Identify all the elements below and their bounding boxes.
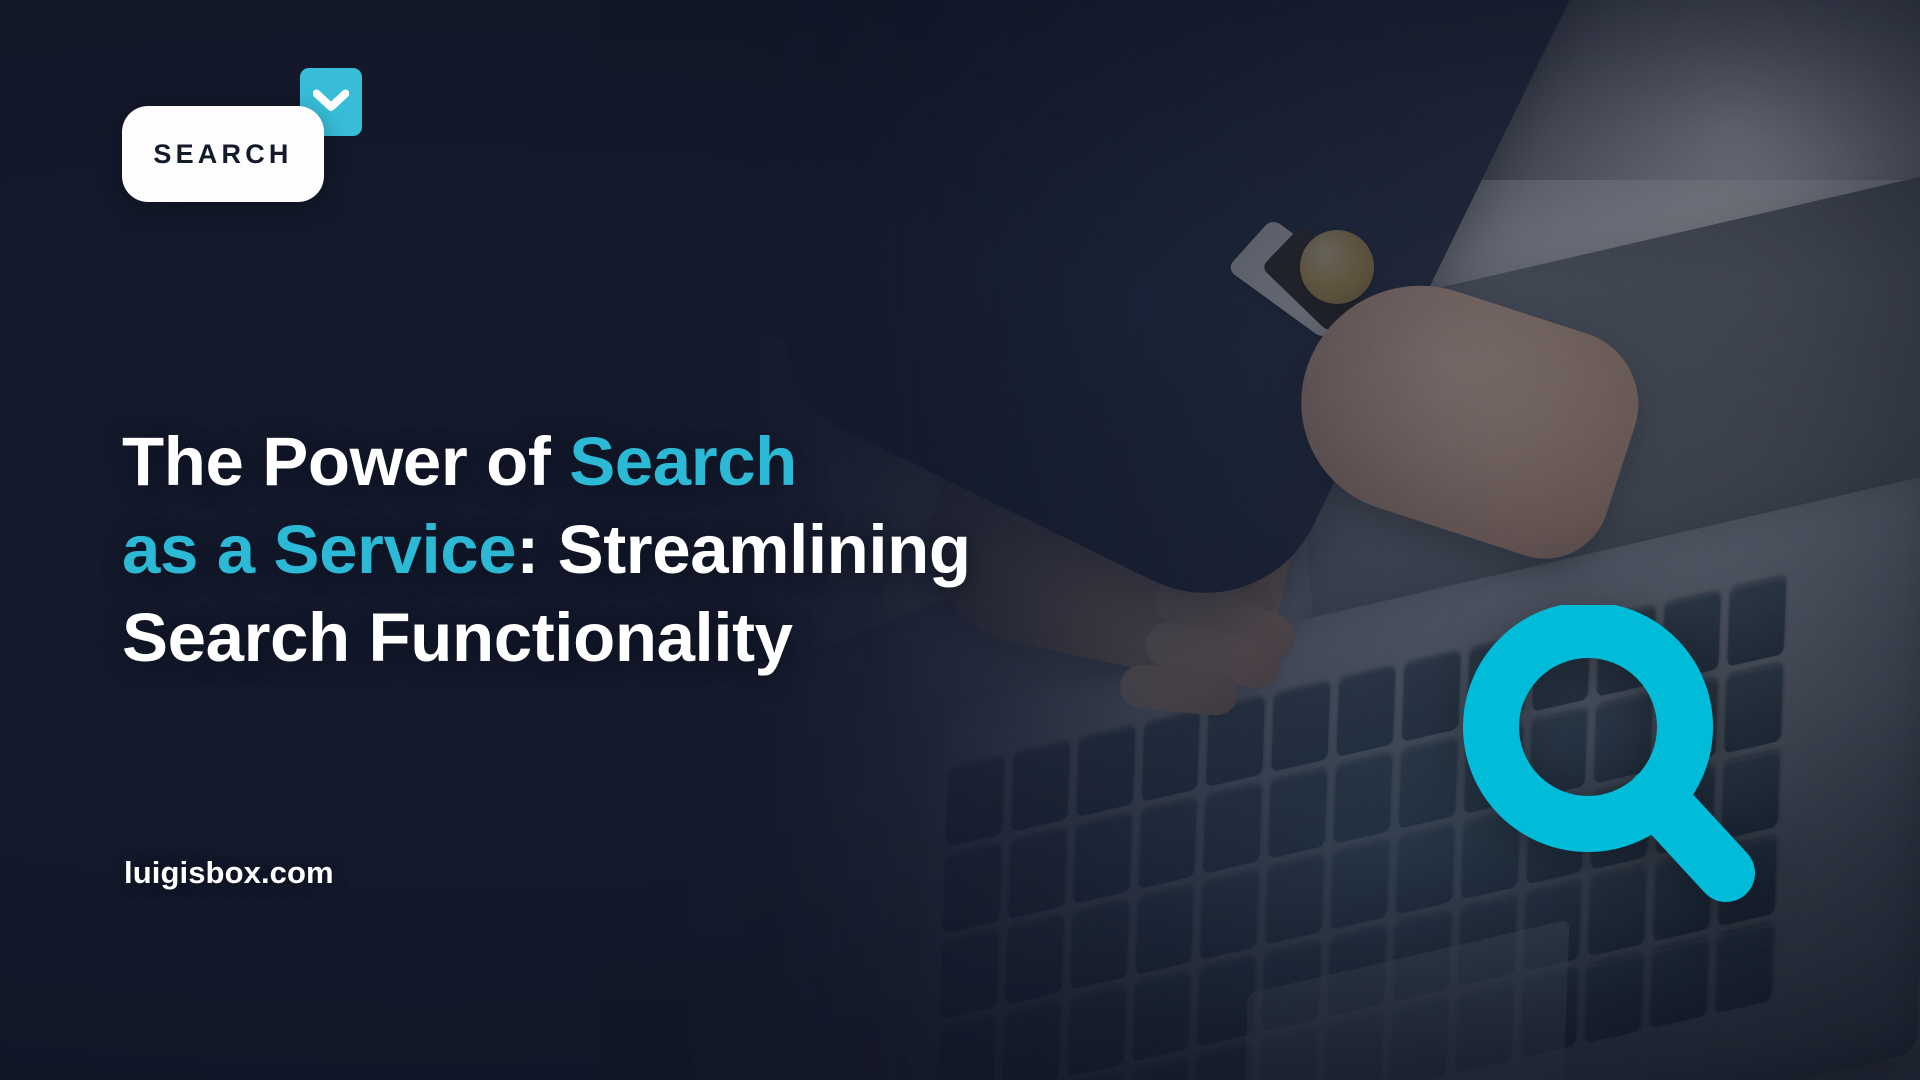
headline-segment: The Power of [122, 423, 569, 500]
logo-wordmark: SEARCH [153, 139, 292, 170]
headline-segment-accent: Search [569, 423, 797, 500]
logo-pill: SEARCH [122, 106, 324, 202]
page-title: The Power of Search as a Service: Stream… [122, 418, 1182, 682]
search-magnifier-icon [1460, 605, 1770, 915]
headline-line-2: as a Service: Streamlining [122, 506, 1182, 594]
headline-segment-accent: as a Service [122, 511, 516, 588]
headline-segment: : Streamlining [516, 511, 970, 588]
search-logo[interactable]: SEARCH [122, 68, 362, 220]
site-url[interactable]: luigisbox.com [124, 855, 334, 891]
headline-line-3: Search Functionality [122, 594, 1182, 682]
headline-line-1: The Power of Search [122, 418, 1182, 506]
headline-segment: Search Functionality [122, 599, 793, 676]
chevron-down-icon [313, 89, 349, 115]
banner-canvas: SEARCH The Power of Search as a Service:… [0, 0, 1920, 1080]
